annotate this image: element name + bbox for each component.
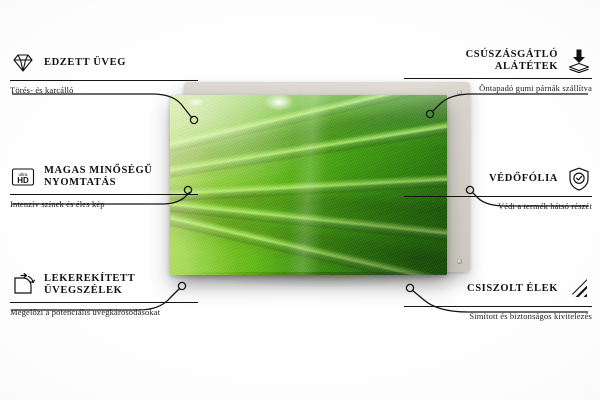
hatched-bevel-icon	[566, 276, 592, 302]
callout-title: LEKEREKÍTETT ÜVEGSZÉLEK	[44, 273, 198, 298]
callout-title: VÉDŐFÓLIA	[404, 173, 558, 186]
callout-divider	[10, 302, 198, 303]
callout-divider	[404, 196, 592, 197]
callout-divider	[404, 78, 592, 79]
callout-rounded-glass-edges: LEKEREKÍTETT ÜVEGSZÉLEK Megelőzi a poten…	[10, 272, 198, 318]
callout-title: MAGAS MINŐSÉGŰ NYOMTATÁS	[44, 165, 198, 190]
callout-subtitle: Simított és biztonságos kivitelezés	[404, 311, 592, 322]
callout-divider	[10, 80, 198, 81]
callout-divider	[10, 194, 198, 195]
shield-check-icon	[566, 166, 592, 192]
callout-title: EDZETT ÜVEG	[44, 57, 198, 70]
callout-ground-edges: CSISZOLT ÉLEK Simított és biztonságos ki…	[404, 276, 592, 322]
callout-subtitle: Megelőzi a potenciális üvegkárosodásokat	[10, 307, 198, 318]
callout-subtitle: Intenzív színek és éles kép	[10, 199, 198, 210]
connector-dot-anti-slip-pads	[426, 110, 433, 117]
callout-protective-foil: VÉDŐFÓLIA Védi a termék hátsó részét	[404, 166, 592, 212]
connector-anti-slip-pads	[432, 94, 588, 112]
rounded-corner-icon	[10, 272, 36, 298]
svg-text:HD: HD	[17, 176, 29, 185]
callout-high-quality-print: ultra HD MAGAS MINŐSÉGŰ NYOMTATÁS Intenz…	[10, 164, 198, 210]
press-pads-icon	[566, 48, 592, 74]
callout-title: CSISZOLT ÉLEK	[404, 283, 558, 296]
connector-dot-tempered-glass	[190, 116, 197, 123]
diamond-icon	[10, 50, 36, 76]
callout-anti-slip-pads: CSÚSZÁSGÁTLÓ ALÁTÉTEK Öntapadó gumi párn…	[404, 48, 592, 94]
callout-subtitle: Védi a termék hátsó részét	[404, 201, 592, 212]
callout-divider	[404, 306, 592, 307]
callout-subtitle: Öntapadó gumi párnák szállítva	[404, 83, 592, 94]
callout-title: CSÚSZÁSGÁTLÓ ALÁTÉTEK	[404, 49, 558, 74]
connector-tempered-glass	[12, 94, 192, 118]
callout-tempered-glass: EDZETT ÜVEG Törés- és karcálló	[10, 50, 198, 96]
callout-subtitle: Törés- és karcálló	[10, 85, 198, 96]
ultra-hd-icon: ultra HD	[10, 164, 36, 190]
